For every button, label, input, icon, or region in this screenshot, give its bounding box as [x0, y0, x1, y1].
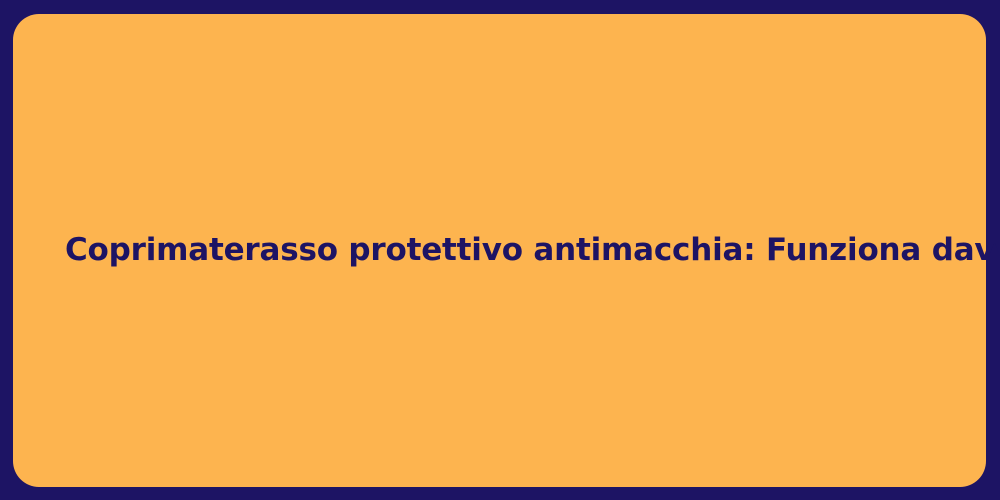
banner-frame: Coprimaterasso protettivo antimacchia: F… — [0, 0, 1000, 500]
page-title: Coprimaterasso protettivo antimacchia: F… — [65, 232, 1000, 269]
banner-panel: Coprimaterasso protettivo antimacchia: F… — [13, 14, 986, 487]
